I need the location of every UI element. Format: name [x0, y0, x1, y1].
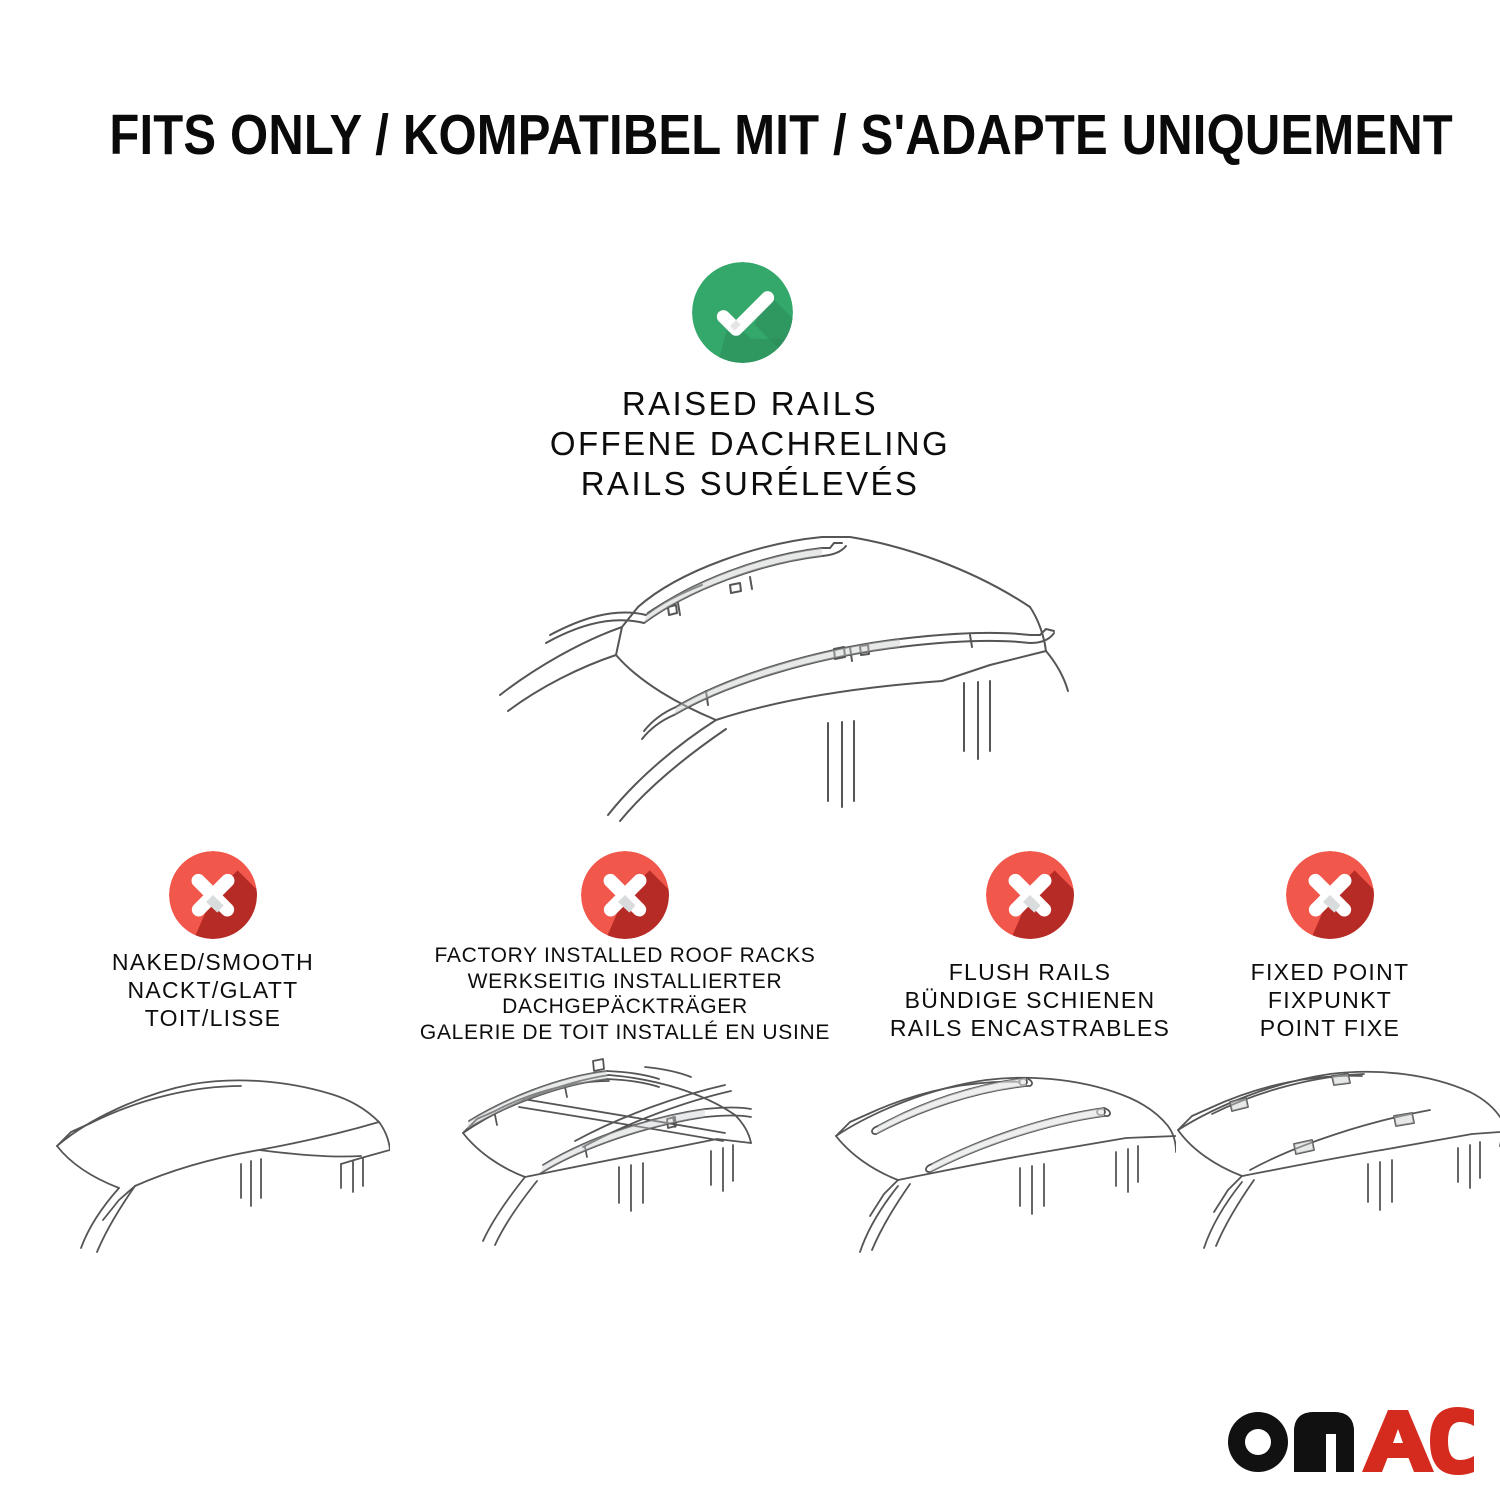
car-roof-factory-racks-illustration: [405, 1055, 760, 1295]
compatible-label-de: OFFENE DACHRELING: [0, 424, 1500, 464]
fixed-point-label-de: FIXPUNKT: [1135, 986, 1500, 1014]
factory-racks-caption: FACTORY INSTALLED ROOF RACKS WERKSEITIG …: [395, 943, 855, 1045]
car-roof-fixed-point-illustration: [1172, 1058, 1500, 1296]
compatible-caption: RAISED RAILS OFFENE DACHRELING RAILS SUR…: [0, 384, 1500, 504]
naked-smooth-caption: NAKED/SMOOTH NACKT/GLATT TOIT/LISSE: [13, 948, 413, 1032]
x-circle-icon: [169, 851, 257, 939]
naked-smooth-label-de: NACKT/GLATT: [13, 976, 413, 1004]
factory-racks-label-de-1: WERKSEITIG INSTALLIERTER: [395, 969, 855, 995]
page-title: FITS ONLY / KOMPATIBEL MIT / S'ADAPTE UN…: [0, 104, 1500, 166]
check-circle-icon: [692, 262, 793, 363]
car-roof-raised-rails-illustration: [430, 515, 1070, 825]
factory-racks-label-de-2: DACHGEPÄCKTRÄGER: [395, 994, 855, 1020]
omac-logo: [1222, 1404, 1474, 1476]
x-circle-icon: [581, 851, 669, 939]
naked-smooth-label-en: NAKED/SMOOTH: [13, 948, 413, 976]
fixed-point-label-en: FIXED POINT: [1135, 958, 1500, 986]
car-roof-flush-rails-illustration: [826, 1058, 1176, 1296]
compatible-label-fr: RAILS SURÉLEVÉS: [0, 464, 1500, 504]
product-fitment-infographic: FITS ONLY / KOMPATIBEL MIT / S'ADAPTE UN…: [0, 0, 1500, 1500]
x-circle-icon: [986, 851, 1074, 939]
naked-smooth-label-fr: TOIT/LISSE: [13, 1004, 413, 1032]
x-circle-icon: [1286, 851, 1374, 939]
page-title-text: FITS ONLY / KOMPATIBEL MIT / S'ADAPTE UN…: [109, 104, 1453, 166]
factory-racks-label-fr: GALERIE DE TOIT INSTALLÉ EN USINE: [395, 1020, 855, 1046]
fixed-point-caption: FIXED POINT FIXPUNKT POINT FIXE: [1135, 958, 1500, 1042]
car-roof-naked-smooth-illustration: [45, 1060, 390, 1295]
factory-racks-label-en: FACTORY INSTALLED ROOF RACKS: [395, 943, 855, 969]
fixed-point-label-fr: POINT FIXE: [1135, 1014, 1500, 1042]
compatible-label-en: RAISED RAILS: [0, 384, 1500, 424]
